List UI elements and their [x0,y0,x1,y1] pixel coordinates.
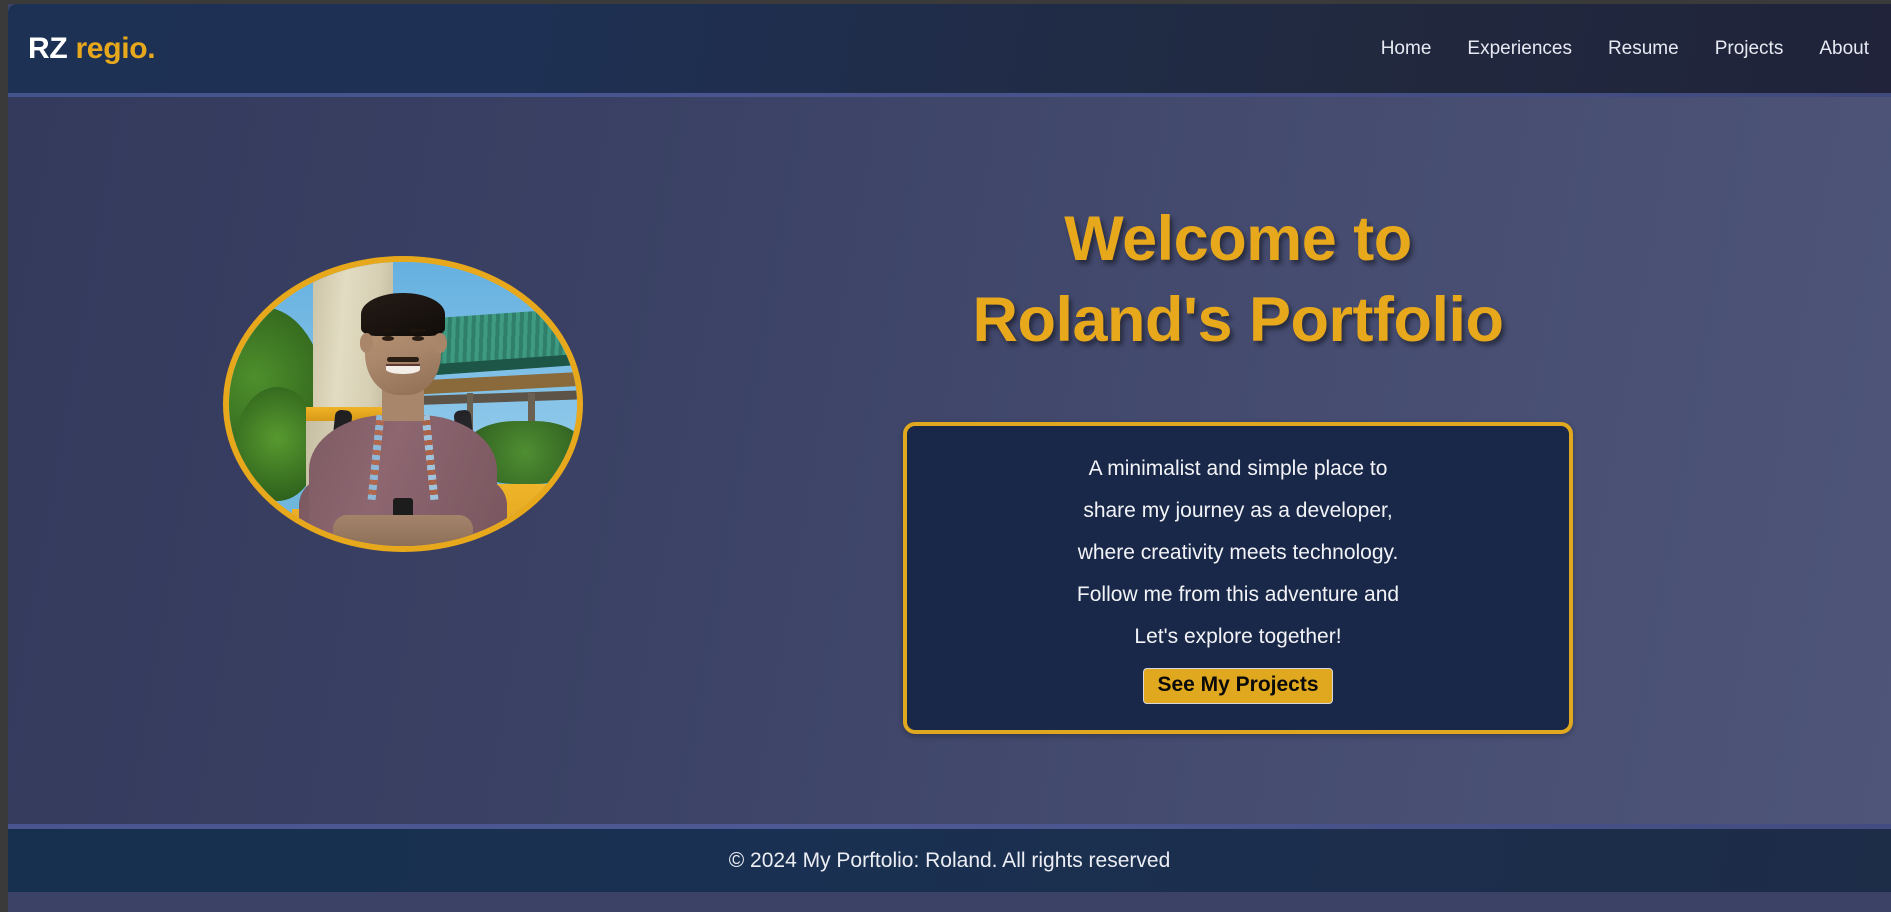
see-my-projects-button[interactable]: See My Projects [1143,668,1332,703]
page-viewport: RZ regio. Home Experiences Resume Projec… [8,4,1891,912]
intro-line-2: share my journey as a developer, [937,490,1539,532]
site-footer: © 2024 My Porftolio: Roland. All rights … [8,829,1891,892]
intro-line-3: where creativity meets technology. [937,532,1539,574]
brand-logo-accent: regio. [75,32,155,65]
main-navigation: Home Experiences Resume Projects About [1381,38,1869,60]
nav-item-about[interactable]: About [1819,38,1869,60]
nav-item-resume[interactable]: Resume [1608,38,1679,60]
browser-window: RZ regio. Home Experiences Resume Projec… [0,0,1891,912]
nav-item-projects[interactable]: Projects [1715,38,1784,60]
hero-content: Welcome to Roland's Portfolio A minimali… [888,97,1588,734]
footer-copyright: © 2024 My Porftolio: Roland. All rights … [729,849,1171,873]
brand-logo-primary: RZ [28,32,67,65]
intro-card: A minimalist and simple place to share m… [903,422,1573,733]
nav-item-home[interactable]: Home [1381,38,1432,60]
brand-logo[interactable]: RZ regio. [28,32,155,66]
nav-item-experiences[interactable]: Experiences [1467,38,1572,60]
intro-line-5: Let's explore together! [937,616,1539,658]
page-title-line-2: Roland's Portfolio [888,280,1588,361]
page-title-line-1: Welcome to [888,199,1588,280]
intro-line-1: A minimalist and simple place to [937,448,1539,490]
page-title: Welcome to Roland's Portfolio [888,199,1588,360]
site-header: RZ regio. Home Experiences Resume Projec… [8,4,1891,93]
profile-photo-frame [223,256,583,552]
intro-line-4: Follow me from this adventure and [937,574,1539,616]
hero-section: Welcome to Roland's Portfolio A minimali… [8,97,1891,824]
profile-photo [223,256,583,552]
profile-photo-image [229,262,577,546]
